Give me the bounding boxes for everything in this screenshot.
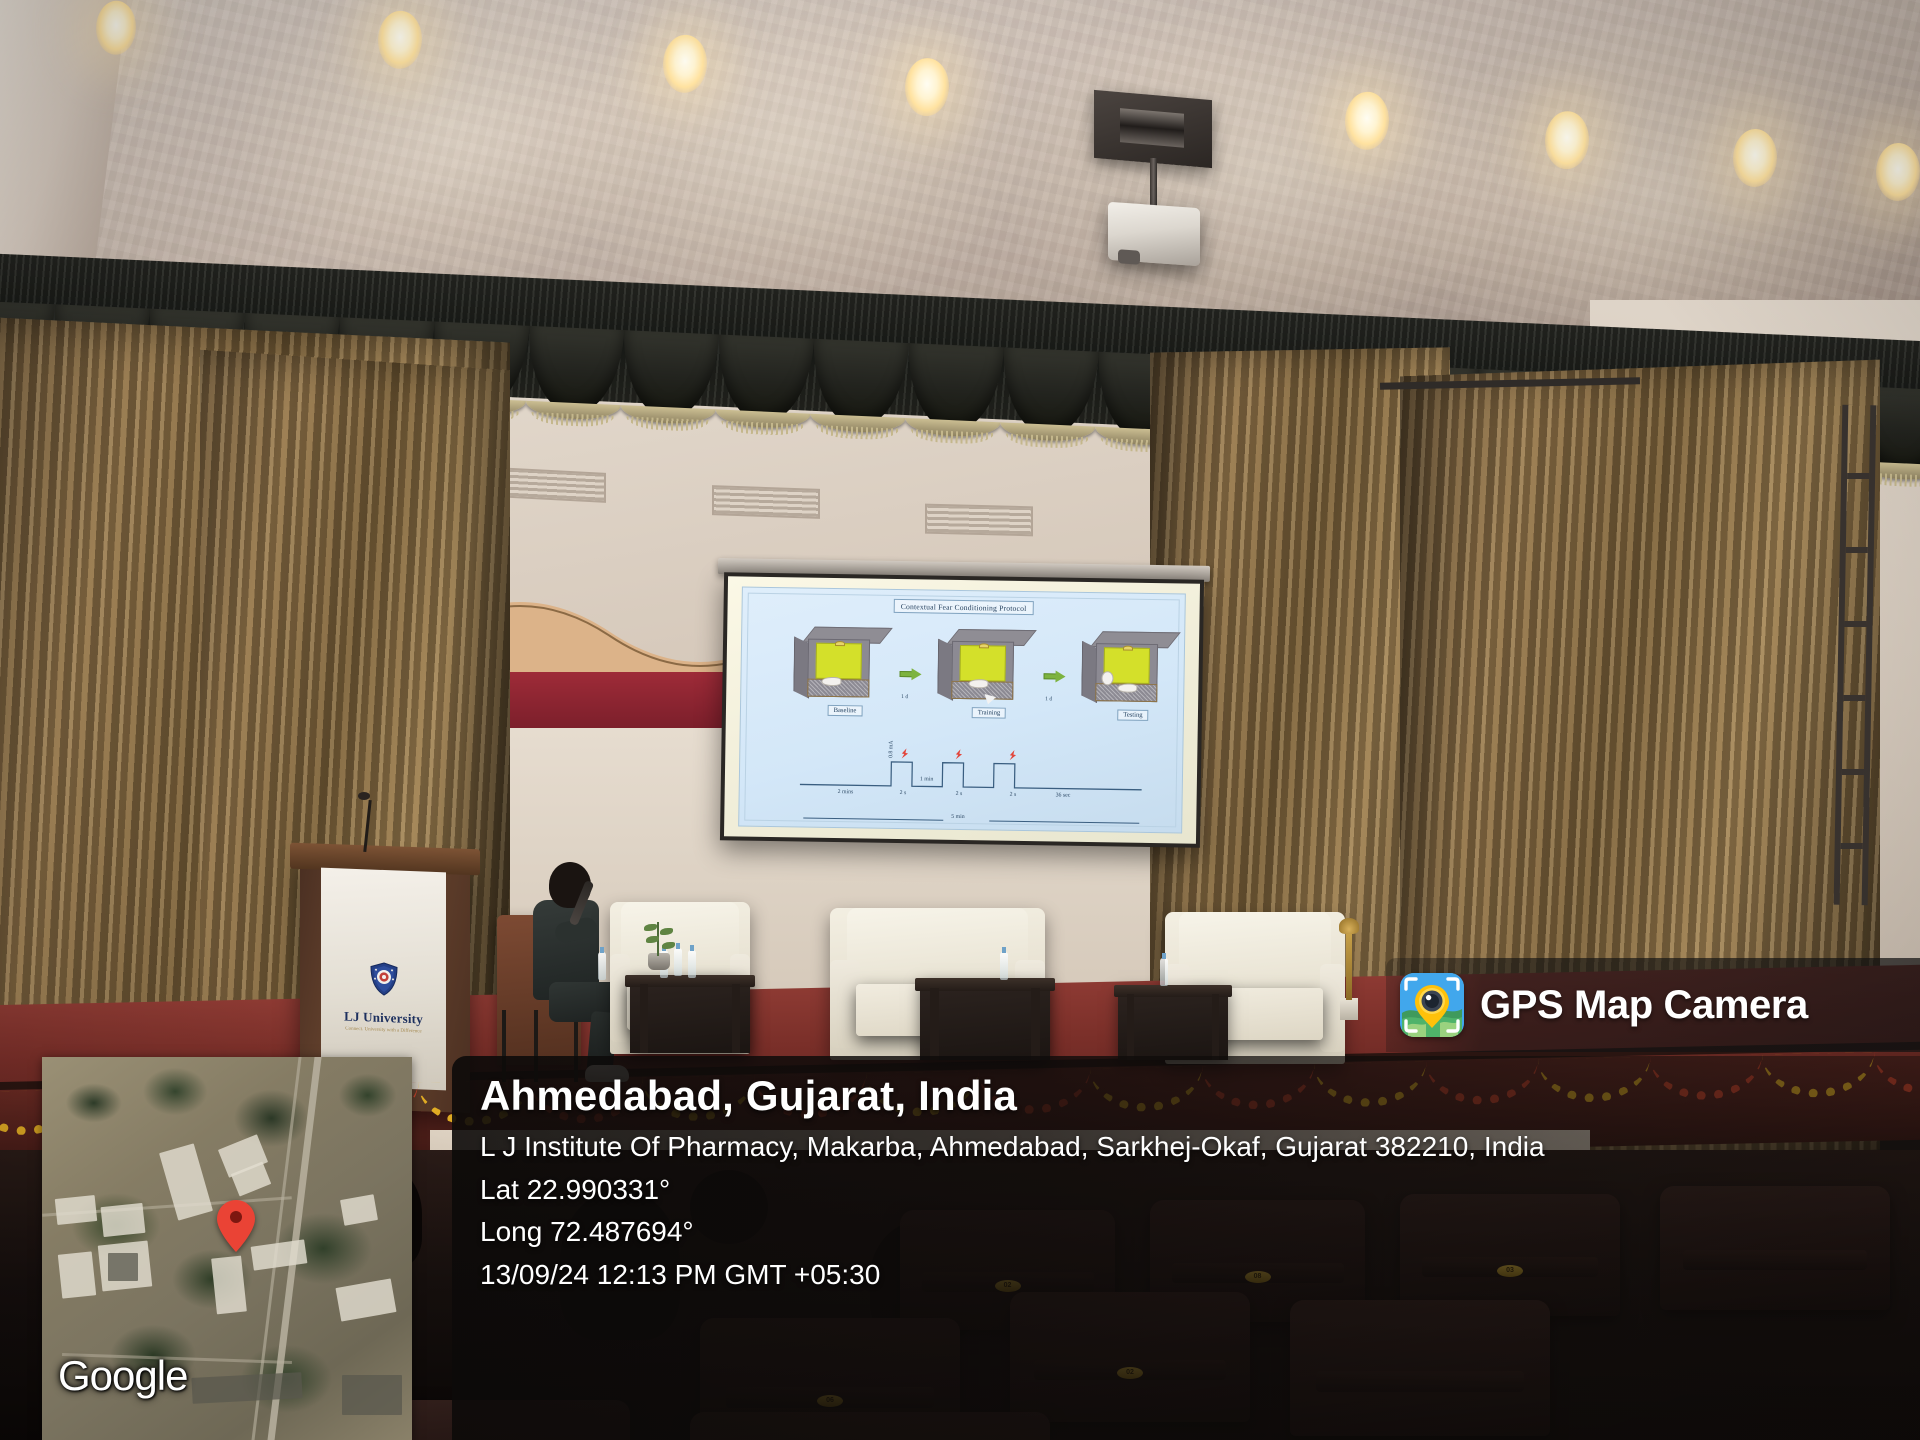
speaker-person: [527, 862, 607, 1074]
gps-map-camera-badge: GPS Map Camera: [1386, 958, 1920, 1052]
screenshot-root: Contextual Fear Conditioning Protocol: [0, 0, 1920, 1440]
capture-timestamp: 13/09/24 12:13 PM GMT +05:30: [480, 1254, 1920, 1297]
stage-coffee-table: [920, 978, 1050, 1060]
location-pin: [216, 1199, 256, 1253]
timeline-segment-label: 2 mins: [838, 789, 854, 795]
presentation-slide: Contextual Fear Conditioning Protocol: [738, 587, 1186, 834]
valance-swag: [715, 334, 814, 424]
valance-swag: [810, 339, 909, 429]
cage-stage-label: Baseline: [828, 705, 863, 717]
slide-timeline: 0.8 mA 1 min 2 mins 2 s 2 s 2 s 36 sec 5…: [799, 748, 1142, 825]
timeline-total: 5 min: [799, 810, 1141, 829]
cage-illustration: [1081, 631, 1168, 704]
projection-screen-surface: Contextual Fear Conditioning Protocol: [724, 576, 1200, 843]
slide-stage-testing: Testing: [1081, 631, 1186, 735]
slide-stage-baseline: Baseline: [793, 626, 899, 730]
timeline-total-rule: [803, 818, 943, 821]
projector-mount-plate: [1094, 90, 1212, 168]
arrow-duration-label: 1 d: [901, 694, 908, 700]
mouse-icon: [968, 679, 988, 688]
cage-stage-label: Training: [972, 707, 1007, 719]
brass-lamp: [1338, 900, 1360, 1020]
valance-swag: [1000, 347, 1099, 437]
wall-air-vent: [925, 504, 1033, 537]
timeline-segment-label: 2 s: [1010, 792, 1017, 798]
mouse-icon: [821, 677, 841, 686]
wall-air-vent: [712, 485, 820, 519]
cage-illustration: [793, 626, 880, 699]
slide-step-arrow-2: 1 d: [1043, 670, 1065, 681]
gps-map-camera-label: GPS Map Camera: [1480, 983, 1808, 1028]
timeline-segment-label: 2 s: [900, 790, 907, 796]
cage-stage-label: Testing: [1117, 709, 1148, 720]
stage-coffee-table: [630, 975, 750, 1053]
mouse-icon: [1117, 683, 1137, 692]
slide-step-arrow-1: 1 d: [899, 668, 921, 679]
timeline-segment-label: 36 sec: [1056, 792, 1071, 798]
cage-illustration: [937, 629, 1024, 702]
timeline-segment-label: 2 s: [956, 791, 963, 797]
location-address: L J Institute Of Pharmacy, Makarba, Ahme…: [480, 1126, 1860, 1169]
water-bottle: [1160, 958, 1168, 986]
location-longitude: Long 72.487694°: [480, 1211, 1920, 1254]
cage-inner-screen: [959, 645, 1006, 682]
map-building: [108, 1253, 138, 1281]
map-thumbnail[interactable]: Google: [42, 1057, 412, 1440]
valance-swag: [526, 326, 625, 416]
arrow-head: [1055, 670, 1065, 682]
gps-map-camera-icon: [1400, 973, 1464, 1037]
table-plant: [636, 918, 680, 970]
arrow-duration-label: 1 d: [1045, 696, 1052, 702]
timeline-total-label: 5 min: [951, 814, 964, 820]
water-bottle: [688, 950, 696, 978]
location-latitude: Lat 22.990331°: [480, 1169, 1920, 1212]
podium-institution-name: LJ University: [344, 1008, 423, 1027]
timeline-interval-label: 1 min: [920, 776, 933, 782]
podium-microphone: [358, 792, 370, 800]
slide-cage-diagram: Baseline 1 d: [741, 626, 1185, 741]
cage-lamp: [979, 643, 989, 648]
map-building: [342, 1375, 402, 1415]
wall-air-vent: [498, 467, 606, 503]
stage-coffee-table: [1118, 985, 1228, 1060]
timeline-current-label: 0.8 mA: [888, 740, 894, 757]
google-watermark: Google: [58, 1352, 187, 1400]
timeline-total-rule: [989, 820, 1139, 823]
cage-lamp: [835, 641, 845, 646]
water-bottle: [598, 952, 606, 980]
shock-icon: [982, 694, 996, 706]
projector-lens: [1118, 249, 1140, 265]
lj-university-crest-icon: [369, 961, 399, 996]
projection-screen: Contextual Fear Conditioning Protocol: [720, 572, 1204, 848]
water-bottle: [1000, 952, 1008, 980]
map-building: [101, 1203, 146, 1237]
arrow-head: [911, 668, 921, 680]
cage-lamp: [1123, 646, 1133, 651]
location-city-line: Ahmedabad, Gujarat, India: [480, 1072, 1920, 1120]
valance-swag: [905, 343, 1004, 433]
slide-stage-training: Training: [937, 629, 1043, 733]
map-building: [211, 1256, 247, 1315]
slide-title: Contextual Fear Conditioning Protocol: [894, 599, 1034, 615]
map-building: [58, 1251, 96, 1298]
podium-tagline: Connect. University with a Difference: [345, 1027, 421, 1035]
valance-swag: [620, 330, 719, 420]
cage-inner-screen: [815, 643, 862, 680]
map-building: [55, 1195, 97, 1225]
geotag-info-panel: Ahmedabad, Gujarat, India L J Institute …: [452, 1056, 1920, 1440]
